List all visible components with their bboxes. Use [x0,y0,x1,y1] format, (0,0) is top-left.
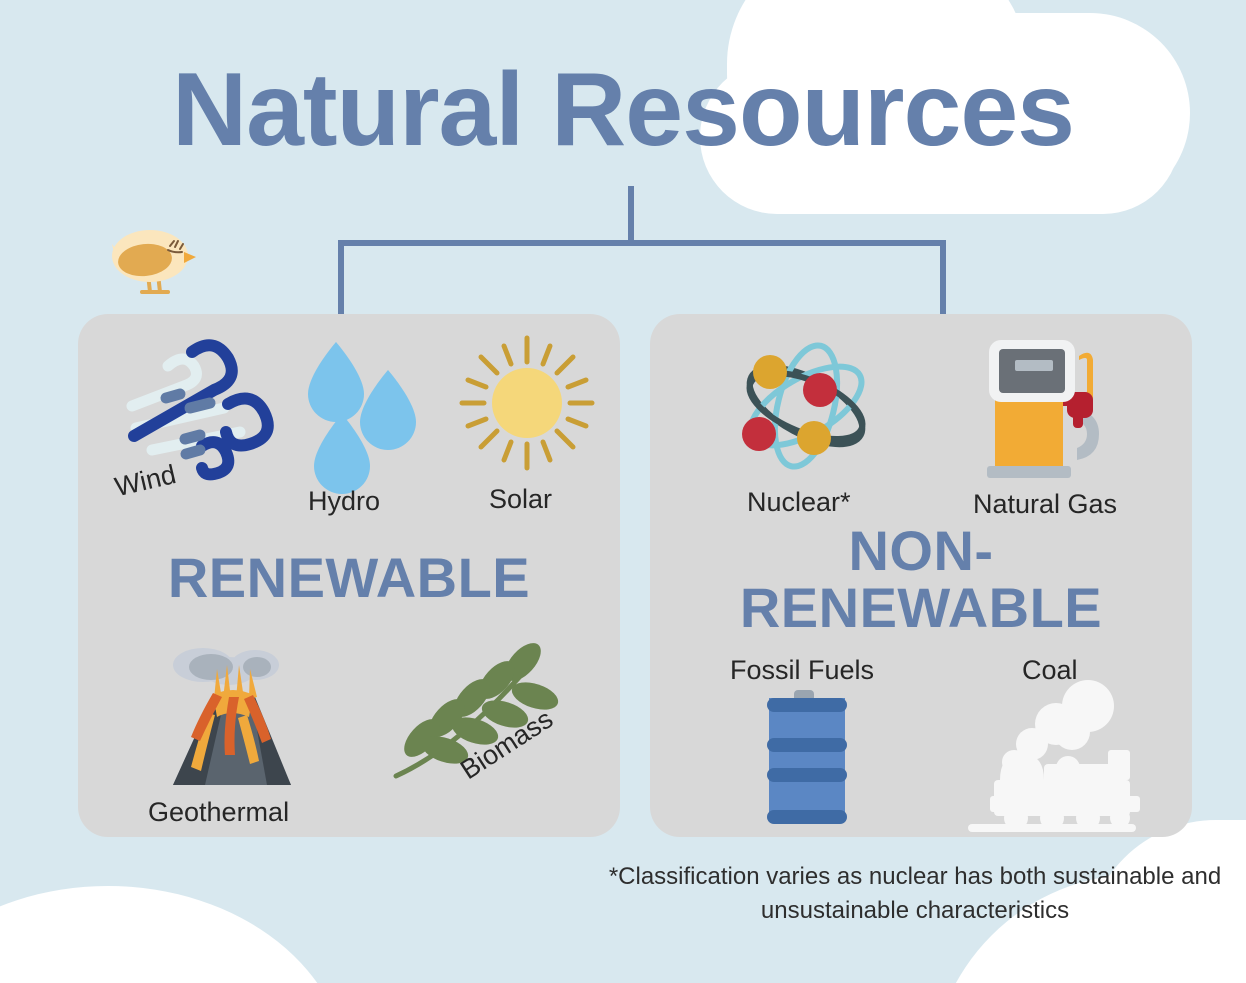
connector-stem [628,186,634,243]
volcano-icon [155,645,307,792]
cloud-bottom-left [0,886,348,983]
bird-icon [98,222,194,304]
item-label-nuclear: Nuclear* [747,487,851,518]
item-label-hydro: Hydro [308,486,380,517]
water-drop-icon [306,338,418,474]
atom-icon [736,338,876,474]
gas-pump-icon [985,338,1110,478]
heading-nonrenewable: NON- RENEWABLE [650,522,1192,636]
connector-right-drop [940,240,946,322]
oil-barrel-icon [757,690,855,830]
item-label-fossil-fuels: Fossil Fuels [730,655,874,686]
item-label-coal: Coal [1022,655,1078,686]
sun-icon [458,336,596,470]
heading-nonrenewable-line2: RENEWABLE [650,579,1192,636]
infographic-canvas: Natural Resources [0,0,1246,983]
heading-renewable: RENEWABLE [78,550,620,606]
item-label-natural-gas: Natural Gas [973,489,1117,520]
page-title: Natural Resources [0,58,1246,162]
heading-nonrenewable-line1: NON- [650,522,1192,579]
item-label-solar: Solar [489,484,552,515]
connector-left-drop [338,240,344,322]
steam-train-icon [960,688,1138,828]
item-label-geothermal: Geothermal [148,797,289,828]
connector-crossbar [338,240,946,246]
footnote-text: *Classification varies as nuclear has bo… [600,860,1230,928]
wind-icon [128,336,283,478]
